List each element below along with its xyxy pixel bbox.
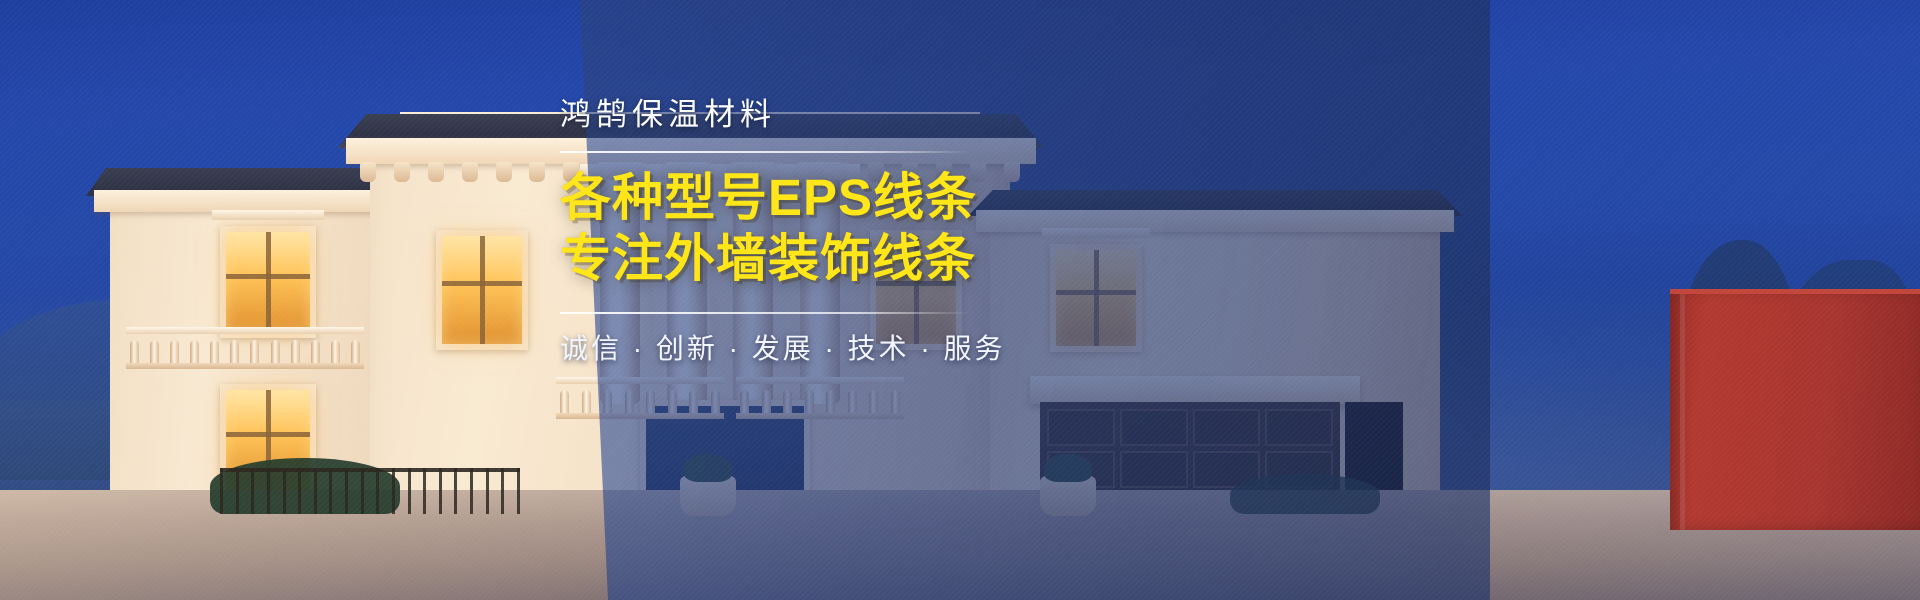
window-hood (212, 210, 324, 220)
window-frame (436, 230, 528, 350)
divider-bottom (560, 312, 970, 314)
lit-window (442, 236, 522, 344)
divider-top (560, 151, 970, 153)
window-mullion-vertical (266, 232, 271, 332)
headline-line-2: 专注外墙装饰线条 (560, 228, 1030, 290)
window-frame (220, 226, 316, 338)
headline-line-1: 各种型号EPS线条 (560, 167, 1030, 229)
red-wall-coping (1670, 289, 1920, 294)
promo-banner: 鸿鹄保温材料 各种型号EPS线条 专注外墙装饰线条 诚信 · 创新 · 发展 ·… (0, 0, 1920, 600)
window-mullion-horizontal (226, 274, 310, 279)
slogan: 诚信 · 创新 · 发展 · 技术 · 服务 (560, 327, 1030, 367)
window-mullion-horizontal (226, 432, 310, 437)
iron-railing (220, 468, 520, 514)
window-mullion-horizontal (442, 281, 522, 286)
lit-window (226, 232, 310, 332)
red-boundary-wall (1670, 290, 1920, 530)
balustrade (130, 334, 360, 364)
banner-copy: 鸿鹄保温材料 各种型号EPS线条 专注外墙装饰线条 诚信 · 创新 · 发展 ·… (560, 96, 1030, 367)
left-wing-cornice (94, 190, 408, 212)
window-mullion-vertical (480, 236, 485, 344)
brand-name: 鸿鹄保温材料 (560, 96, 1030, 135)
